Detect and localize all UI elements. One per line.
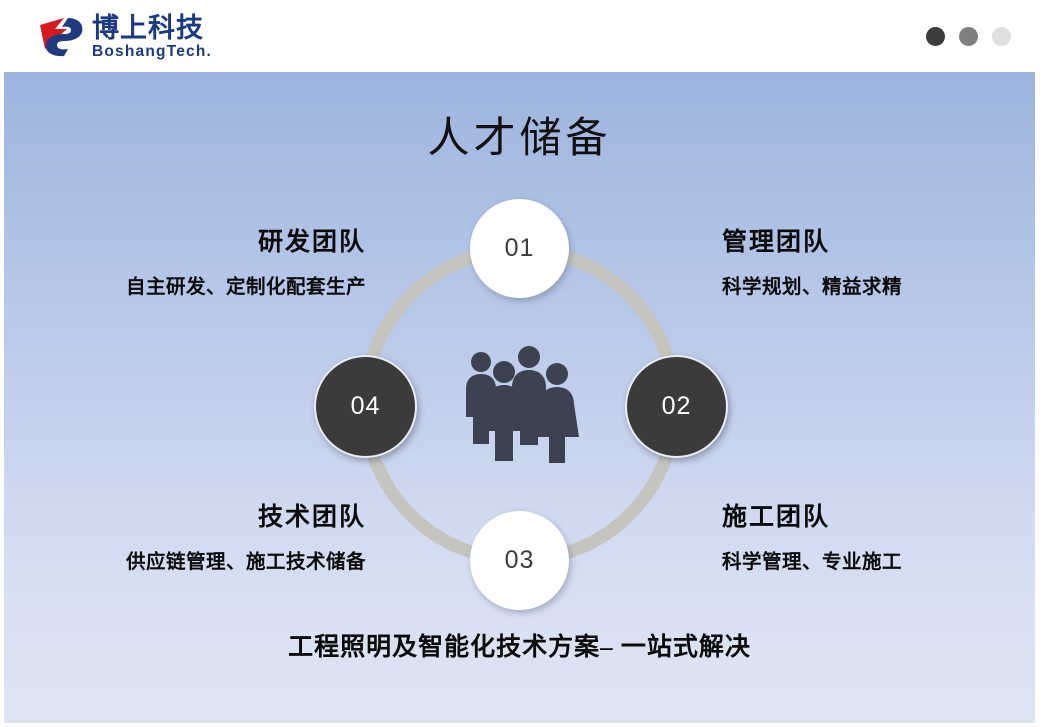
quadrant-technical-desc: 供应链管理、施工技术储备 <box>36 545 366 574</box>
dot-dark-icon <box>926 27 945 46</box>
diagram-node-02[interactable]: 02 <box>625 355 728 458</box>
diagram-node-03[interactable]: 03 <box>470 511 569 610</box>
slide-body: 人才储备 研发团队 自主研发、定制化配套生产 管理团队 科学规划、精益求精 技术… <box>4 72 1035 723</box>
diagram-node-04-label: 04 <box>351 392 381 421</box>
quadrant-technical-title: 技术团队 <box>36 497 366 533</box>
quadrant-management: 管理团队 科学规划、精益求精 <box>722 222 1043 299</box>
logo-wordmark: 博上科技 BoshangTech. <box>92 15 212 60</box>
diagram-node-01-label: 01 <box>505 234 535 263</box>
boshang-logo-mark-icon <box>38 16 86 58</box>
diagram-node-03-label: 03 <box>505 546 535 575</box>
diagram-node-04[interactable]: 04 <box>314 355 417 458</box>
dot-light-icon <box>992 27 1011 46</box>
logo-english-name: BoshangTech. <box>92 44 212 60</box>
page-title: 人才储备 <box>4 104 1035 165</box>
dot-medium-icon <box>959 27 978 46</box>
diagram-node-01[interactable]: 01 <box>470 199 569 298</box>
circular-diagram: 01 02 03 04 <box>330 215 710 595</box>
logo-chinese-name: 博上科技 <box>92 15 212 42</box>
quadrant-rd-desc: 自主研发、定制化配套生产 <box>36 270 366 299</box>
quadrant-construction: 施工团队 科学管理、专业施工 <box>722 497 1043 574</box>
quadrant-rd: 研发团队 自主研发、定制化配套生产 <box>36 222 366 299</box>
quadrant-rd-title: 研发团队 <box>36 222 366 258</box>
quadrant-technical: 技术团队 供应链管理、施工技术储备 <box>36 497 366 574</box>
header-dots-decoration <box>926 27 1011 46</box>
quadrant-construction-desc: 科学管理、专业施工 <box>722 545 1043 574</box>
presentation-slide: 博上科技 BoshangTech. 人才储备 研发团队 自主研发、定制化配套生产… <box>0 0 1043 727</box>
group-of-people-icon <box>455 345 585 465</box>
quadrant-construction-title: 施工团队 <box>722 497 1043 533</box>
slide-tagline: 工程照明及智能化技术方案– 一站式解决 <box>4 627 1035 663</box>
company-logo: 博上科技 BoshangTech. <box>38 14 212 60</box>
slide-header: 博上科技 BoshangTech. <box>0 0 1043 72</box>
quadrant-management-desc: 科学规划、精益求精 <box>722 270 1043 299</box>
quadrant-management-title: 管理团队 <box>722 222 1043 258</box>
diagram-node-02-label: 02 <box>662 392 692 421</box>
